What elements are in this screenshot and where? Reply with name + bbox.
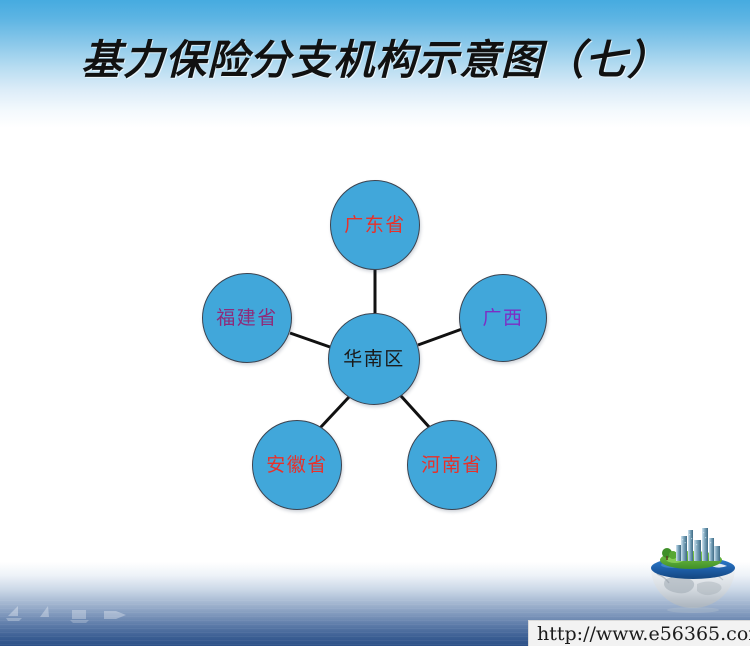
node-guangdong[interactable]: 广东省 — [330, 180, 420, 270]
edge-center-fujian — [290, 333, 330, 347]
branch-structure-diagram: 广东省 广西 福建省 安徽省 河南省 华南区 — [0, 0, 750, 646]
slide-canvas: 基力保险分支机构示意图（七） 广东省 广西 福建省 安徽省 — [0, 0, 750, 646]
node-center-huanan[interactable]: 华南区 — [328, 313, 420, 405]
node-fujian-label: 福建省 — [216, 309, 278, 328]
node-fujian[interactable]: 福建省 — [202, 273, 292, 363]
globe-city-icon — [645, 524, 741, 616]
edge-center-guangxi — [418, 329, 462, 345]
edge-center-anhui — [320, 397, 349, 428]
node-center-label: 华南区 — [343, 350, 405, 369]
node-guangxi-label: 广西 — [482, 309, 523, 328]
watermark-url-text: http://www.e56365.com — [537, 623, 750, 645]
edge-center-henan — [401, 396, 430, 428]
node-henan[interactable]: 河南省 — [407, 420, 497, 510]
node-guangdong-label: 广东省 — [344, 216, 406, 235]
node-anhui-label: 安徽省 — [266, 456, 328, 475]
node-anhui[interactable]: 安徽省 — [252, 420, 342, 510]
node-henan-label: 河南省 — [421, 456, 483, 475]
watermark-url-band: http://www.e56365.com — [528, 620, 750, 646]
node-guangxi[interactable]: 广西 — [459, 274, 547, 362]
